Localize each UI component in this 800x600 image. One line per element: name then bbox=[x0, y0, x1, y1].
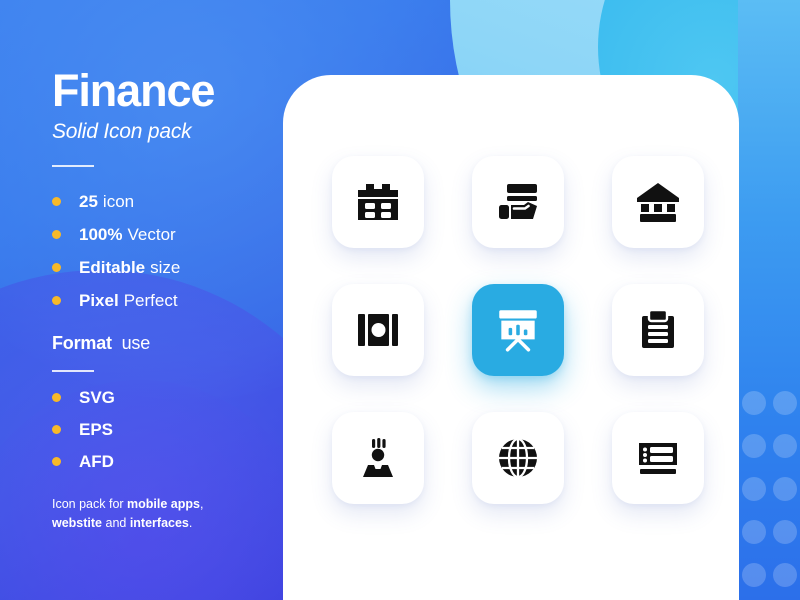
footnote-bold-3: interfaces bbox=[130, 516, 189, 530]
icon-tile-receipt[interactable] bbox=[612, 284, 704, 376]
dot bbox=[773, 563, 797, 587]
format-label: SVG bbox=[79, 389, 115, 406]
bullet-icon bbox=[52, 457, 61, 466]
format-label: EPS bbox=[79, 421, 113, 438]
bullet-icon bbox=[52, 296, 61, 305]
feature-list: 25 icon 100% Vector Editable size Pixel … bbox=[52, 193, 284, 309]
calendar-icon bbox=[354, 178, 402, 226]
dot bbox=[742, 391, 766, 415]
title-divider bbox=[52, 165, 94, 167]
icon-tile-coin-deposit[interactable] bbox=[332, 412, 424, 504]
icon-tile-file-tray[interactable] bbox=[472, 156, 564, 248]
coin-deposit-icon bbox=[354, 434, 402, 482]
list-item: AFD bbox=[52, 453, 284, 470]
feature-normal: Vector bbox=[127, 226, 175, 243]
footnote-bold-1: mobile apps bbox=[127, 497, 200, 511]
footnote: Icon pack for mobile apps, webstite and … bbox=[52, 495, 242, 534]
feature-normal: icon bbox=[103, 193, 134, 210]
dot bbox=[742, 477, 766, 501]
list-item: Editable size bbox=[52, 259, 284, 276]
list-card-icon bbox=[634, 434, 682, 482]
feature-normal: Perfect bbox=[124, 292, 178, 309]
page-subtitle: Solid Icon pack bbox=[52, 120, 284, 144]
dot bbox=[742, 520, 766, 544]
icon-tile-bank[interactable] bbox=[612, 156, 704, 248]
dot bbox=[773, 434, 797, 458]
footnote-text-4: . bbox=[189, 516, 192, 530]
feature-strong: Editable bbox=[79, 259, 145, 276]
page-title: Finance bbox=[52, 68, 284, 114]
background-dot-grid bbox=[738, 390, 800, 600]
file-tray-icon bbox=[494, 178, 542, 226]
footnote-text-3: and bbox=[102, 516, 130, 530]
bullet-icon bbox=[52, 393, 61, 402]
icon-grid bbox=[323, 147, 713, 513]
receipt-clipboard-icon bbox=[634, 306, 682, 354]
dot bbox=[742, 563, 766, 587]
icon-tile-calendar[interactable] bbox=[332, 156, 424, 248]
info-column: Finance Solid Icon pack 25 icon 100% Vec… bbox=[52, 68, 284, 534]
bullet-icon bbox=[52, 263, 61, 272]
dot bbox=[742, 434, 766, 458]
footnote-bold-2: webstite bbox=[52, 516, 102, 530]
feature-strong: Pixel bbox=[79, 292, 119, 309]
poster-canvas: Finance Solid Icon pack 25 icon 100% Vec… bbox=[0, 0, 800, 600]
ledger-book-icon bbox=[354, 306, 402, 354]
bullet-icon bbox=[52, 425, 61, 434]
list-item: EPS bbox=[52, 421, 284, 438]
list-item: 25 icon bbox=[52, 193, 284, 210]
feature-strong: 25 bbox=[79, 193, 98, 210]
format-list: SVG EPS AFD bbox=[52, 389, 284, 470]
format-heading-normal: use bbox=[122, 333, 150, 353]
icon-tile-presentation-chart[interactable] bbox=[472, 284, 564, 376]
dot bbox=[773, 391, 797, 415]
feature-normal: size bbox=[150, 259, 180, 276]
dot bbox=[773, 477, 797, 501]
bullet-icon bbox=[52, 197, 61, 206]
bullet-icon bbox=[52, 230, 61, 239]
footnote-text-2: , bbox=[200, 497, 203, 511]
format-heading-strong: Format bbox=[52, 333, 112, 353]
format-label: AFD bbox=[79, 453, 114, 470]
icon-tile-list-card[interactable] bbox=[612, 412, 704, 504]
list-item: 100% Vector bbox=[52, 226, 284, 243]
feature-strong: 100% bbox=[79, 226, 122, 243]
globe-icon bbox=[494, 434, 542, 482]
icon-tile-globe[interactable] bbox=[472, 412, 564, 504]
format-heading: Format use bbox=[52, 333, 284, 354]
list-item: Pixel Perfect bbox=[52, 292, 284, 309]
list-item: SVG bbox=[52, 389, 284, 406]
icon-showcase-panel bbox=[283, 75, 739, 600]
footnote-text-1: Icon pack for bbox=[52, 497, 127, 511]
icon-tile-ledger-book[interactable] bbox=[332, 284, 424, 376]
format-divider bbox=[52, 370, 94, 372]
dot bbox=[773, 520, 797, 544]
bank-building-icon bbox=[634, 178, 682, 226]
presentation-chart-icon bbox=[493, 305, 543, 355]
